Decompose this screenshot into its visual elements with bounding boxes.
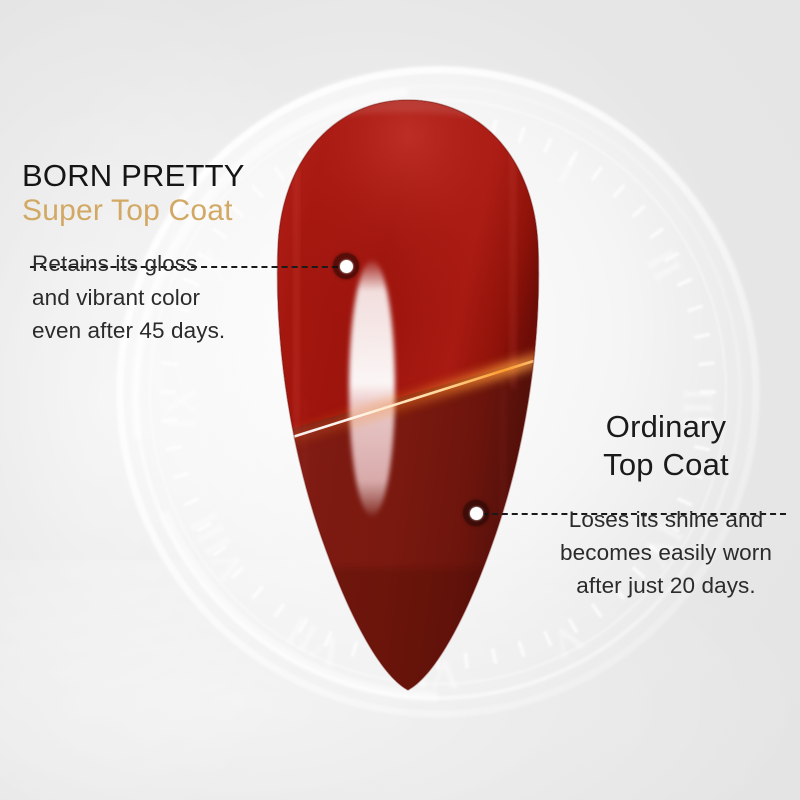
heading-line: Ordinary — [540, 408, 792, 446]
heading-line: Top Coat — [540, 446, 792, 484]
description-line: Loses its shine and — [540, 503, 792, 536]
description-line: Retains its gloss — [32, 247, 322, 280]
background-gradient — [0, 0, 800, 800]
callout-marker-ordinary-top-coat[interactable] — [463, 500, 489, 526]
product-comparison-graphic: XII XI X IX VIII VII VI V IV III II I — [0, 0, 800, 800]
ordinary-top-coat-description: Loses its shine and becomes easily worn … — [540, 503, 792, 603]
ordinary-top-coat-heading: Ordinary Top Coat — [540, 408, 792, 485]
description-line: and vibrant color — [32, 281, 322, 314]
callout-super-top-coat: BORN PRETTY Super Top Coat Retains its g… — [22, 160, 322, 347]
description-line: after just 20 days. — [540, 569, 792, 602]
brand-name: BORN PRETTY — [22, 160, 322, 193]
description-line: even after 45 days. — [32, 314, 322, 347]
description-line: becomes easily worn — [540, 536, 792, 569]
callout-marker-super-top-coat[interactable] — [333, 253, 359, 279]
super-top-coat-description: Retains its gloss and vibrant color even… — [32, 247, 322, 347]
callout-ordinary-top-coat: Ordinary Top Coat Loses its shine and be… — [540, 408, 792, 603]
product-name: Super Top Coat — [22, 193, 322, 230]
